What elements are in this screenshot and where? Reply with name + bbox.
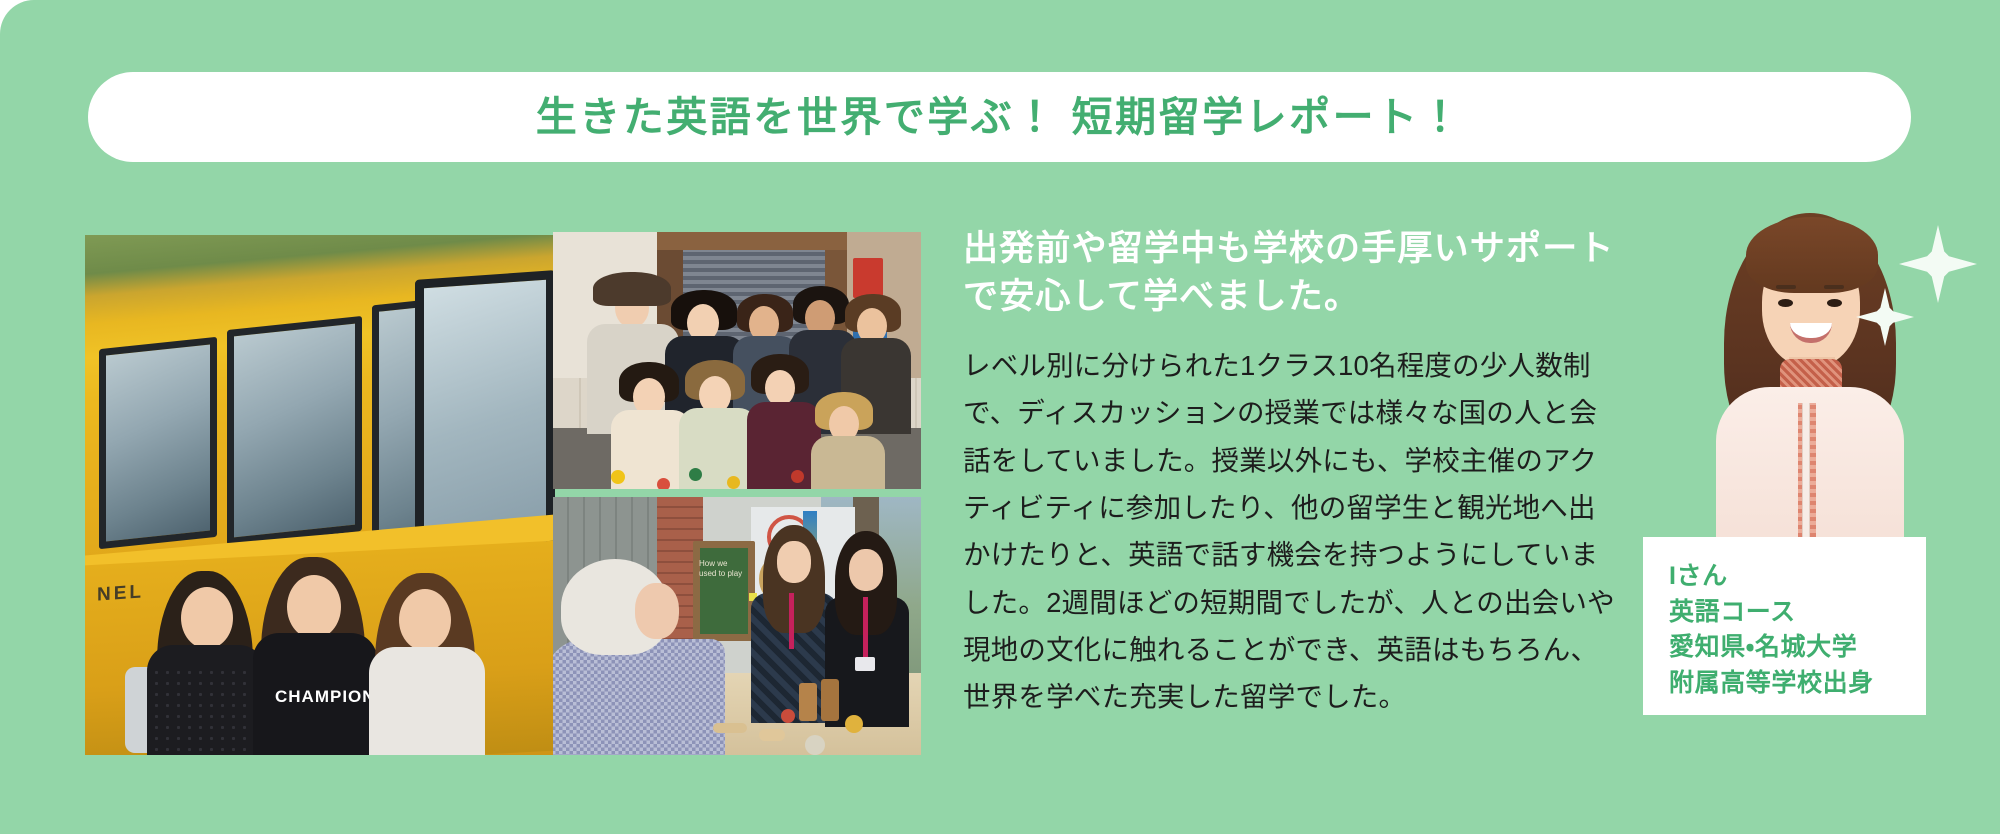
student-face <box>181 587 233 649</box>
visitor-torso <box>553 639 725 755</box>
wooden-toy <box>713 723 747 733</box>
profile-school-line1: 愛知県・名城大学 <box>1669 630 1926 666</box>
testimonial-lead: 出発前や留学中も学校の手厚いサポートで安心して学べました。 <box>963 225 1623 320</box>
wall-poster <box>853 258 883 298</box>
person-torso <box>747 402 821 489</box>
portrait-eyebrow <box>1824 285 1844 289</box>
portrait-eyebrow <box>1776 285 1796 289</box>
lanyard <box>863 597 868 659</box>
profile-course: 英語コース <box>1669 595 1926 631</box>
info-board-text: How weused to play <box>699 559 751 579</box>
id-badge <box>855 657 875 671</box>
billiard-ball <box>689 468 702 481</box>
person-face <box>765 370 795 406</box>
profile-caption-card: Iさん 英語コース 愛知県・名城大学 附属高等学校出身 <box>1643 537 1926 715</box>
page-title: 生きた英語を世界で学ぶ！ 短期留学レポート！ <box>536 97 1463 138</box>
testimonial-text-column: 出発前や留学中も学校の手厚いサポートで安心して学べました。 レベル別に分けられた… <box>963 225 1623 721</box>
ceiling-beam <box>657 232 867 250</box>
student-shirt-pattern <box>151 667 259 755</box>
billiard-ball <box>727 476 740 489</box>
billiard-ball <box>657 478 670 489</box>
person-torso <box>811 436 885 489</box>
spinning-top <box>845 715 863 733</box>
profile-school-line2: 附属高等学校出身 <box>1669 666 1926 702</box>
bus-window <box>99 337 217 549</box>
testimonial-page: 生きた英語を世界で学ぶ！ 短期留学レポート！ NEL CHAMPION <box>0 0 2000 834</box>
billiard-ball <box>611 470 625 484</box>
student-face <box>849 549 883 591</box>
portrait-eye <box>1827 299 1842 307</box>
student-torso <box>369 647 485 755</box>
wooden-toy <box>759 729 785 741</box>
photo-international-group <box>553 232 921 489</box>
student-shirt-logo: CHAMPION <box>275 687 376 707</box>
student-face <box>777 541 811 583</box>
info-board <box>693 541 755 641</box>
profile-name: Iさん <box>1669 559 1926 595</box>
testimonial-body: レベル別に分けられた1クラス10名程度の少人数制で、ディスカッションの授業では様… <box>963 342 1623 720</box>
bus-window <box>227 316 362 545</box>
visitor-face <box>635 583 679 639</box>
billiard-ball <box>791 470 804 483</box>
lanyard <box>789 593 794 649</box>
person-hair <box>593 272 671 306</box>
kendama-toy <box>799 683 817 721</box>
photo-museum-workshop: How weused to play <box>553 497 921 755</box>
student-face <box>399 589 451 651</box>
photo-school-bus-students: NEL CHAMPION <box>85 235 555 755</box>
student-face <box>287 575 341 639</box>
portrait-eye <box>1778 299 1793 307</box>
kendama-toy <box>821 679 839 721</box>
toy-ball <box>805 735 825 755</box>
title-banner: 生きた英語を世界で学ぶ！ 短期留学レポート！ <box>88 72 1911 162</box>
toy-ball <box>781 709 795 723</box>
bus-side-lettering: NEL <box>97 581 144 606</box>
portrait-tie-string <box>1802 403 1810 543</box>
portrait-bangs <box>1746 217 1878 293</box>
